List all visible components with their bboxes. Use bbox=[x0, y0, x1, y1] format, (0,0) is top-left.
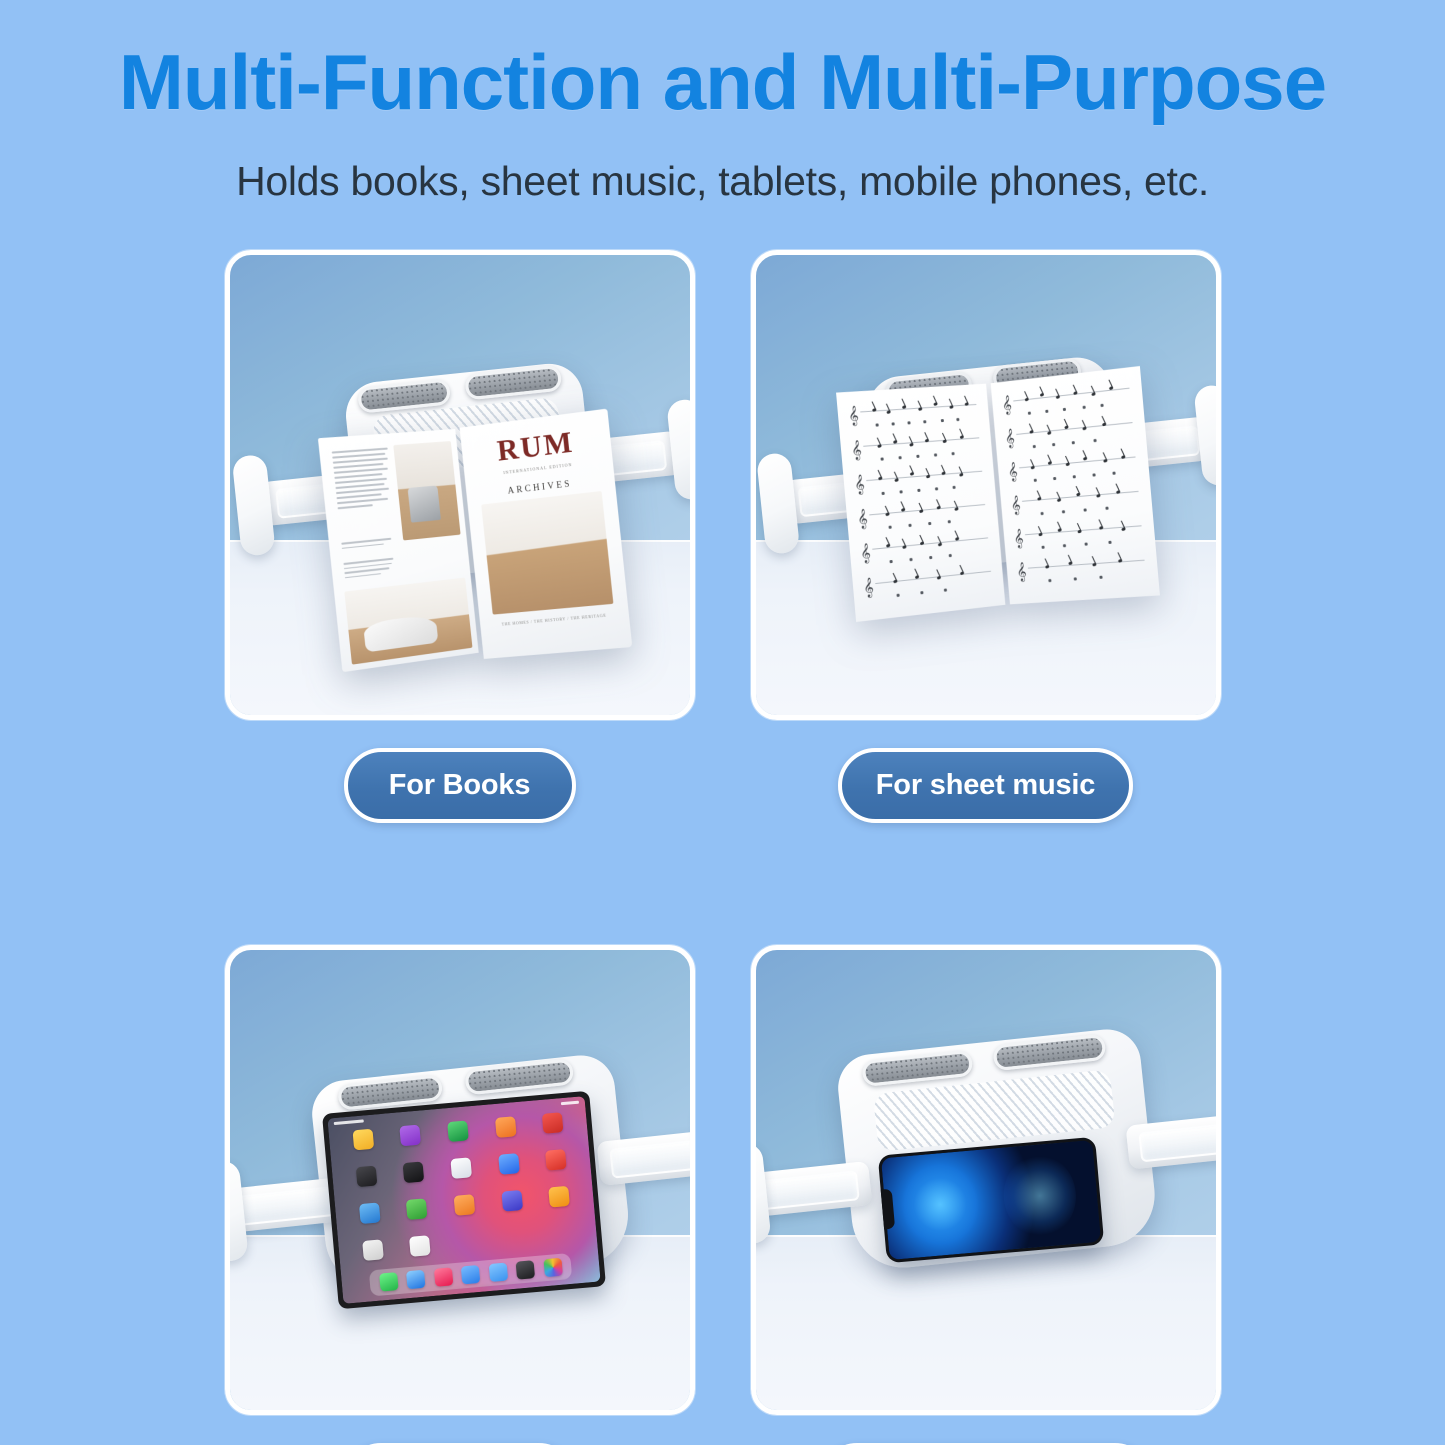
magazine-photo-interior-bottom bbox=[344, 577, 472, 664]
magazine-page-left bbox=[317, 429, 478, 672]
songbook-page-right: 𝄞 bbox=[990, 366, 1159, 604]
app-icon[interactable] bbox=[497, 1153, 519, 1175]
tablet-app-grid bbox=[338, 1111, 587, 1262]
use-case-cell-books[interactable]: RUM INTERNATIONAL EDITION ARCHIVES THE H… bbox=[225, 250, 695, 823]
dock-icon[interactable] bbox=[515, 1260, 535, 1280]
dock-icon[interactable] bbox=[378, 1272, 398, 1292]
dock-icon[interactable] bbox=[405, 1270, 425, 1290]
magazine-page-right: RUM INTERNATIONAL EDITION ARCHIVES THE H… bbox=[459, 409, 632, 659]
caption-pill-books[interactable]: For Books bbox=[344, 748, 576, 823]
use-case-cell-sheet-music[interactable]: 𝄞 bbox=[751, 250, 1221, 823]
treble-clef-icon: 𝄞 bbox=[850, 441, 862, 459]
app-icon[interactable] bbox=[358, 1202, 380, 1224]
treble-clef-icon: 𝄞 bbox=[1007, 463, 1018, 481]
open-songbook: 𝄞 bbox=[836, 368, 1159, 620]
product-photo-books[interactable]: RUM INTERNATIONAL EDITION ARCHIVES THE H… bbox=[225, 250, 695, 720]
scene-mobile-phones bbox=[756, 950, 1216, 1410]
caption-pill-sheet-music[interactable]: For sheet music bbox=[838, 748, 1133, 823]
music-stave: 𝄞 bbox=[1015, 553, 1148, 591]
treble-clef-icon: 𝄞 bbox=[1004, 429, 1015, 447]
app-icon[interactable] bbox=[453, 1194, 475, 1216]
app-icon[interactable] bbox=[545, 1149, 567, 1171]
magazine-cover-photo bbox=[481, 491, 613, 615]
tablet-device bbox=[321, 1091, 605, 1310]
page-title: Multi-Function and Multi-Purpose bbox=[0, 42, 1445, 124]
dock-icon[interactable] bbox=[542, 1258, 562, 1278]
treble-clef-icon: 𝄞 bbox=[847, 407, 859, 425]
open-magazine: RUM INTERNATIONAL EDITION ARCHIVES THE H… bbox=[318, 410, 631, 675]
music-stave: 𝄞 bbox=[1012, 519, 1145, 559]
music-stave: 𝄞 bbox=[850, 431, 983, 471]
app-icon[interactable] bbox=[409, 1235, 431, 1257]
product-photo-tablet[interactable] bbox=[225, 945, 695, 1415]
dock-icon[interactable] bbox=[433, 1267, 453, 1287]
app-icon[interactable] bbox=[402, 1161, 424, 1183]
songbook-page-left: 𝄞 bbox=[836, 384, 1005, 622]
tablet-dock bbox=[368, 1253, 571, 1297]
page-header: Multi-Function and Multi-Purpose Holds b… bbox=[0, 0, 1445, 205]
treble-clef-icon: 𝄞 bbox=[859, 544, 871, 562]
treble-clef-icon: 𝄞 bbox=[1015, 563, 1026, 580]
scene-sheet-music: 𝄞 bbox=[756, 255, 1216, 715]
grid-row-bottom: For Tablet bbox=[0, 945, 1445, 1445]
treble-clef-icon: 𝄞 bbox=[856, 510, 868, 528]
grid-row-top: RUM INTERNATIONAL EDITION ARCHIVES THE H… bbox=[0, 250, 1445, 823]
treble-clef-icon: 𝄞 bbox=[1013, 529, 1024, 546]
app-icon[interactable] bbox=[450, 1157, 472, 1179]
app-icon[interactable] bbox=[361, 1239, 383, 1261]
use-case-grid: RUM INTERNATIONAL EDITION ARCHIVES THE H… bbox=[0, 250, 1445, 1445]
app-icon[interactable] bbox=[352, 1129, 374, 1151]
page-subtitle: Holds books, sheet music, tablets, mobil… bbox=[0, 158, 1445, 205]
product-photo-mobile-phones[interactable] bbox=[751, 945, 1221, 1415]
app-icon[interactable] bbox=[548, 1186, 570, 1208]
treble-clef-icon: 𝄞 bbox=[1001, 396, 1012, 414]
phone-screen bbox=[880, 1140, 1100, 1260]
treble-clef-icon: 𝄞 bbox=[853, 475, 865, 493]
magazine-photo-interior-left bbox=[393, 441, 460, 540]
treble-clef-icon: 𝄞 bbox=[1010, 496, 1021, 513]
scene-books: RUM INTERNATIONAL EDITION ARCHIVES THE H… bbox=[230, 255, 690, 715]
treble-clef-icon: 𝄞 bbox=[862, 578, 874, 596]
dock-icon[interactable] bbox=[460, 1265, 480, 1285]
smartphone-device bbox=[877, 1137, 1104, 1264]
app-icon[interactable] bbox=[541, 1112, 563, 1134]
app-icon[interactable] bbox=[494, 1116, 516, 1138]
app-icon[interactable] bbox=[501, 1190, 523, 1212]
app-icon[interactable] bbox=[399, 1125, 421, 1147]
music-stave: 𝄞 bbox=[1010, 485, 1143, 526]
scene-tablet bbox=[230, 950, 690, 1410]
app-icon[interactable] bbox=[355, 1166, 377, 1188]
product-photo-sheet-music[interactable]: 𝄞 bbox=[751, 250, 1221, 720]
use-case-cell-tablet[interactable]: For Tablet bbox=[225, 945, 695, 1445]
dock-icon[interactable] bbox=[488, 1263, 508, 1283]
app-icon[interactable] bbox=[447, 1120, 469, 1142]
tablet-screen bbox=[327, 1096, 600, 1304]
table-surface bbox=[756, 1235, 1216, 1410]
use-case-cell-mobile-phones[interactable]: For mobile phones bbox=[751, 945, 1221, 1445]
app-icon[interactable] bbox=[406, 1198, 428, 1220]
